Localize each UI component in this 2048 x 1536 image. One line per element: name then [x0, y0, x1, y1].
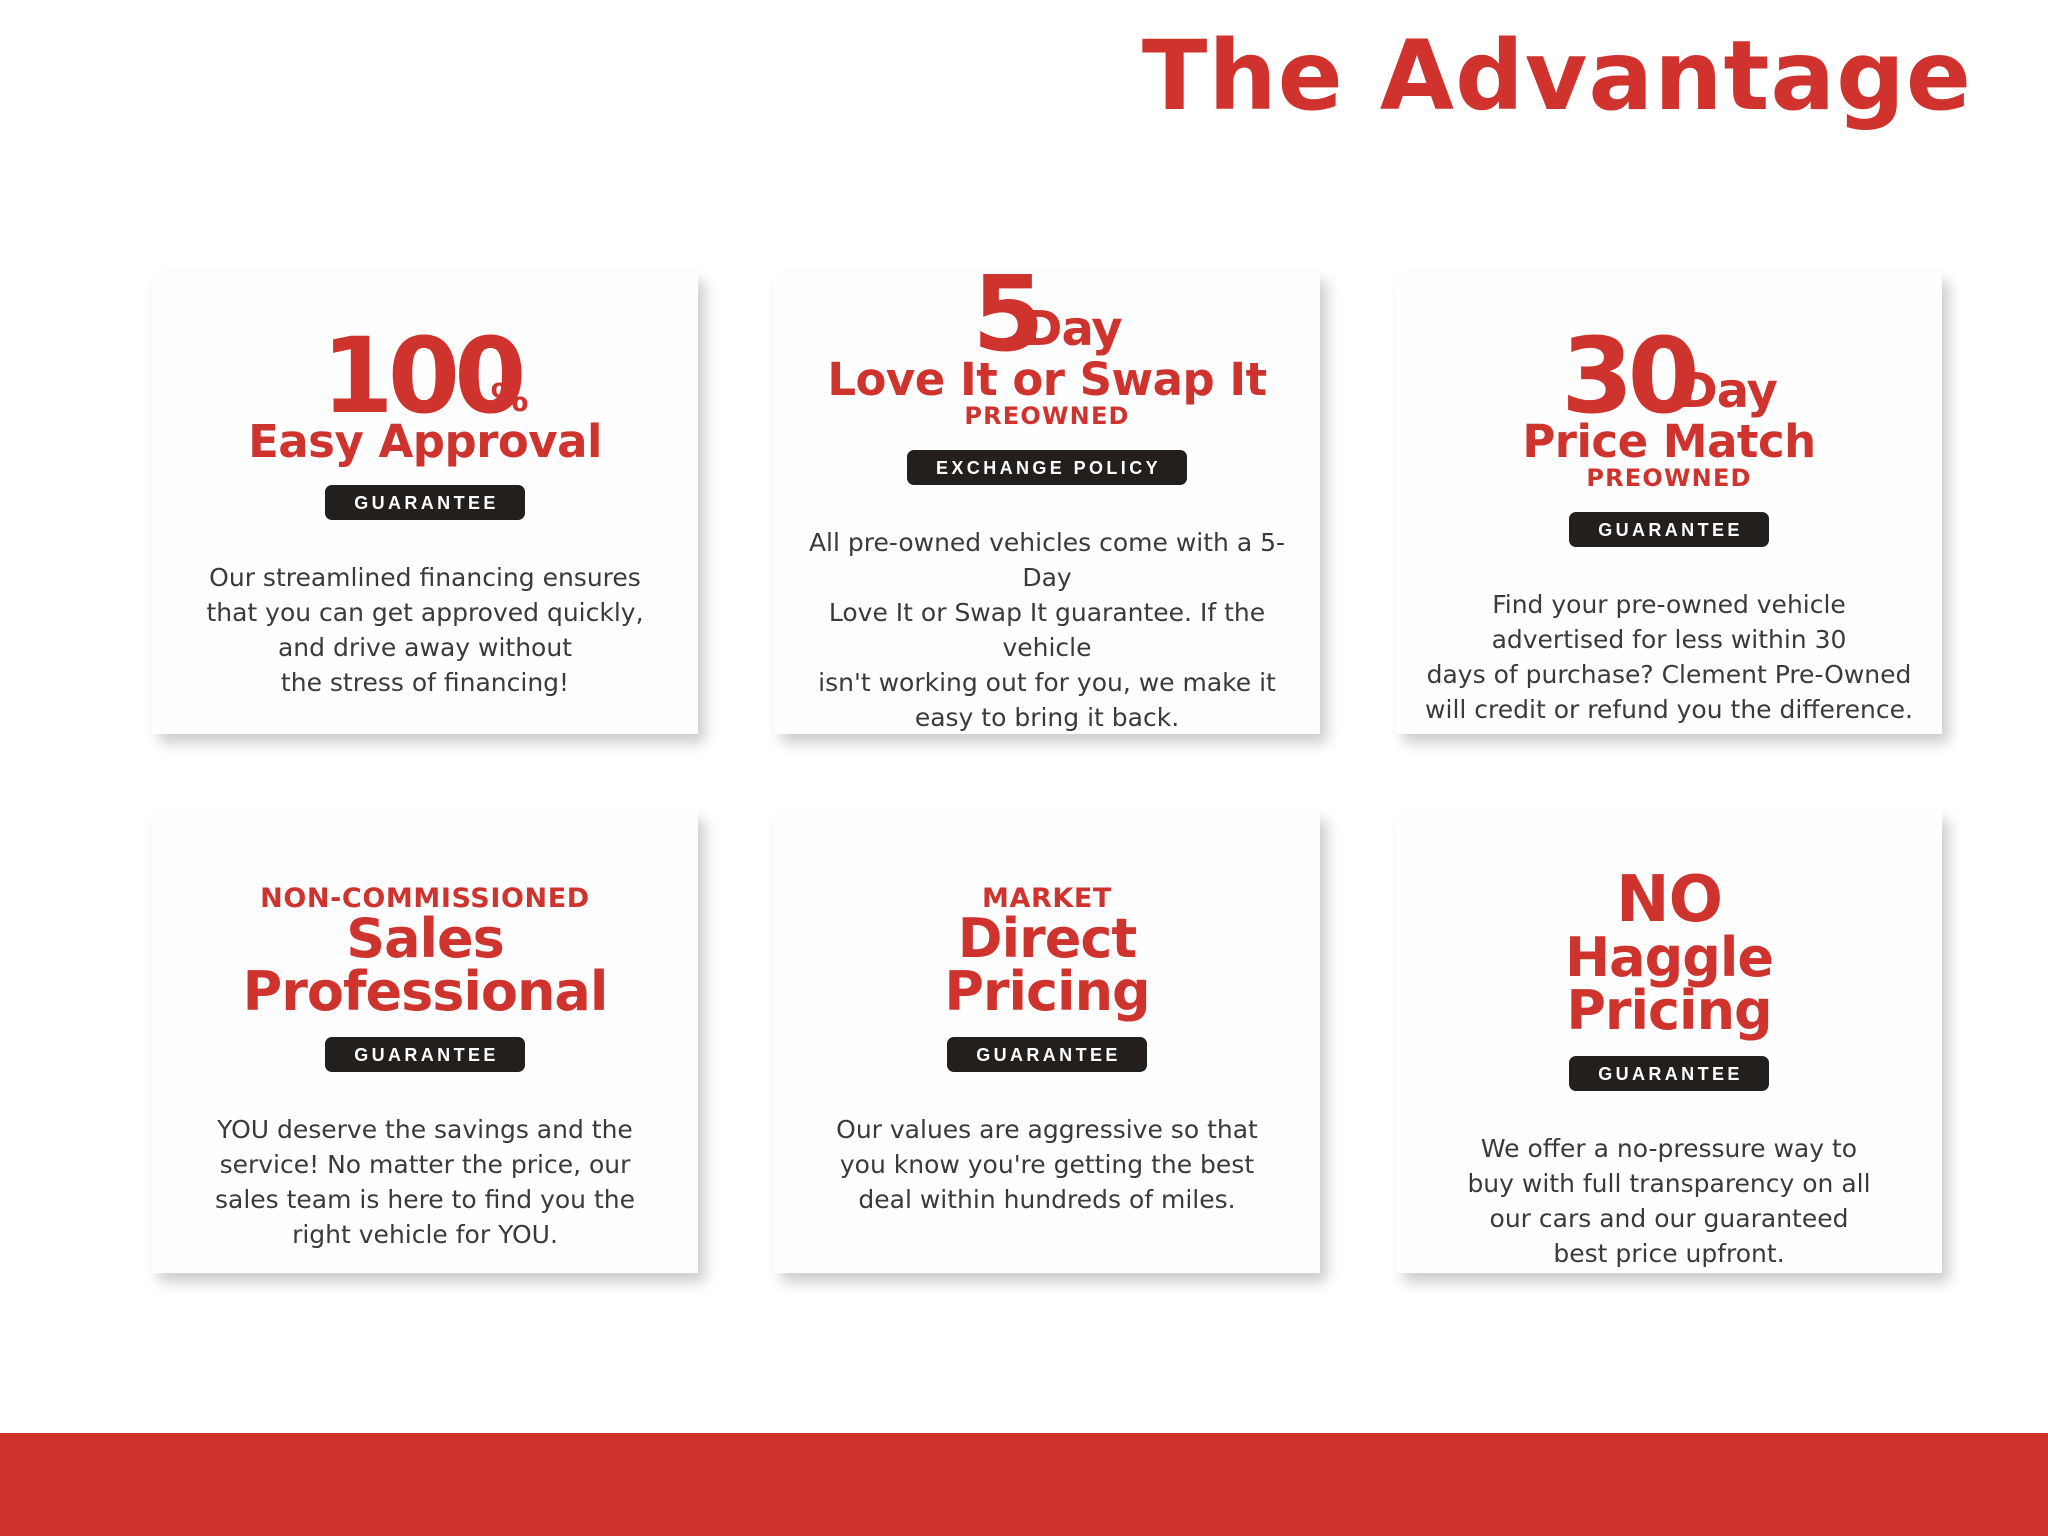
card-headline: 100 % Easy Approval	[178, 334, 672, 465]
headline-main: Direct Pricing	[800, 913, 1294, 1019]
headline-main: Price Match	[1422, 419, 1916, 465]
status-badge: GUARANTEE	[1569, 512, 1769, 547]
badge-wrap: GUARANTEE	[1422, 512, 1916, 547]
status-badge: EXCHANGE POLICY	[907, 450, 1187, 485]
headline-numeral-suffix: Day	[1678, 367, 1777, 415]
headline-main: Love It or Swap It	[800, 357, 1294, 403]
headline-eyebrow: NO	[1422, 869, 1916, 932]
card-body-text: Our values are aggressive so that you kn…	[800, 1112, 1294, 1217]
card-headline: 30 Day Price Match PREOWNED	[1422, 334, 1916, 492]
footer-accent-bar	[0, 1433, 2048, 1536]
card-headline: MARKET Direct Pricing	[800, 885, 1294, 1019]
card-body-text: We offer a no-pressure way to buy with f…	[1422, 1131, 1916, 1271]
page-title-word-advantage: Advantage	[1380, 20, 1972, 132]
status-badge: GUARANTEE	[1569, 1056, 1769, 1091]
headline-numeral: 30	[1561, 334, 1694, 419]
headline-numeral-row: 5 Day	[800, 272, 1294, 357]
advantage-card-non-commissioned-sales[interactable]: NON-COMMISSIONED Sales Professional GUAR…	[152, 811, 698, 1273]
status-badge: GUARANTEE	[325, 485, 525, 520]
card-body-text: Find your pre-owned vehicle advertised f…	[1422, 587, 1916, 727]
badge-wrap: GUARANTEE	[178, 1037, 672, 1072]
status-badge: GUARANTEE	[325, 1037, 525, 1072]
headline-numeral-row: 30 Day	[1422, 334, 1916, 419]
advantage-card-love-it-or-swap-it[interactable]: 5 Day Love It or Swap It PREOWNED EXCHAN…	[774, 272, 1320, 734]
percent-icon: %	[491, 379, 529, 417]
badge-wrap: GUARANTEE	[1422, 1056, 1916, 1091]
advantage-card-price-match[interactable]: 30 Day Price Match PREOWNED GUARANTEE Fi…	[1396, 272, 1942, 734]
headline-main: Easy Approval	[178, 419, 672, 465]
status-badge: GUARANTEE	[947, 1037, 1147, 1072]
card-body-text: Our streamlined financing ensures that y…	[178, 560, 672, 700]
badge-wrap: GUARANTEE	[800, 1037, 1294, 1072]
advantage-card-no-haggle-pricing[interactable]: NO Haggle Pricing GUARANTEE We offer a n…	[1396, 811, 1942, 1273]
badge-wrap: GUARANTEE	[178, 485, 672, 520]
card-headline: NO Haggle Pricing	[1422, 869, 1916, 1038]
page-title-word-the: The	[1142, 20, 1344, 132]
headline-numeral-row: 100 %	[178, 334, 672, 419]
card-headline: NON-COMMISSIONED Sales Professional	[178, 885, 672, 1019]
page-title: TheAdvantage	[1142, 28, 1972, 124]
headline-sub: PREOWNED	[800, 403, 1294, 429]
advantage-card-easy-approval[interactable]: 100 % Easy Approval GUARANTEE Our stream…	[152, 272, 698, 734]
advantage-card-market-direct-pricing[interactable]: MARKET Direct Pricing GUARANTEE Our valu…	[774, 811, 1320, 1273]
card-body-text: YOU deserve the savings and the service!…	[178, 1112, 672, 1252]
headline-numeral-suffix: Day	[1023, 305, 1122, 353]
card-headline: 5 Day Love It or Swap It PREOWNED	[800, 272, 1294, 430]
headline-main: Sales Professional	[178, 913, 672, 1019]
headline-main: Haggle Pricing	[1422, 932, 1916, 1038]
card-body-text: All pre-owned vehicles come with a 5-Day…	[800, 525, 1294, 735]
advantage-card-grid: 100 % Easy Approval GUARANTEE Our stream…	[152, 272, 1952, 1273]
headline-sub: PREOWNED	[1422, 465, 1916, 491]
badge-wrap: EXCHANGE POLICY	[800, 450, 1294, 485]
